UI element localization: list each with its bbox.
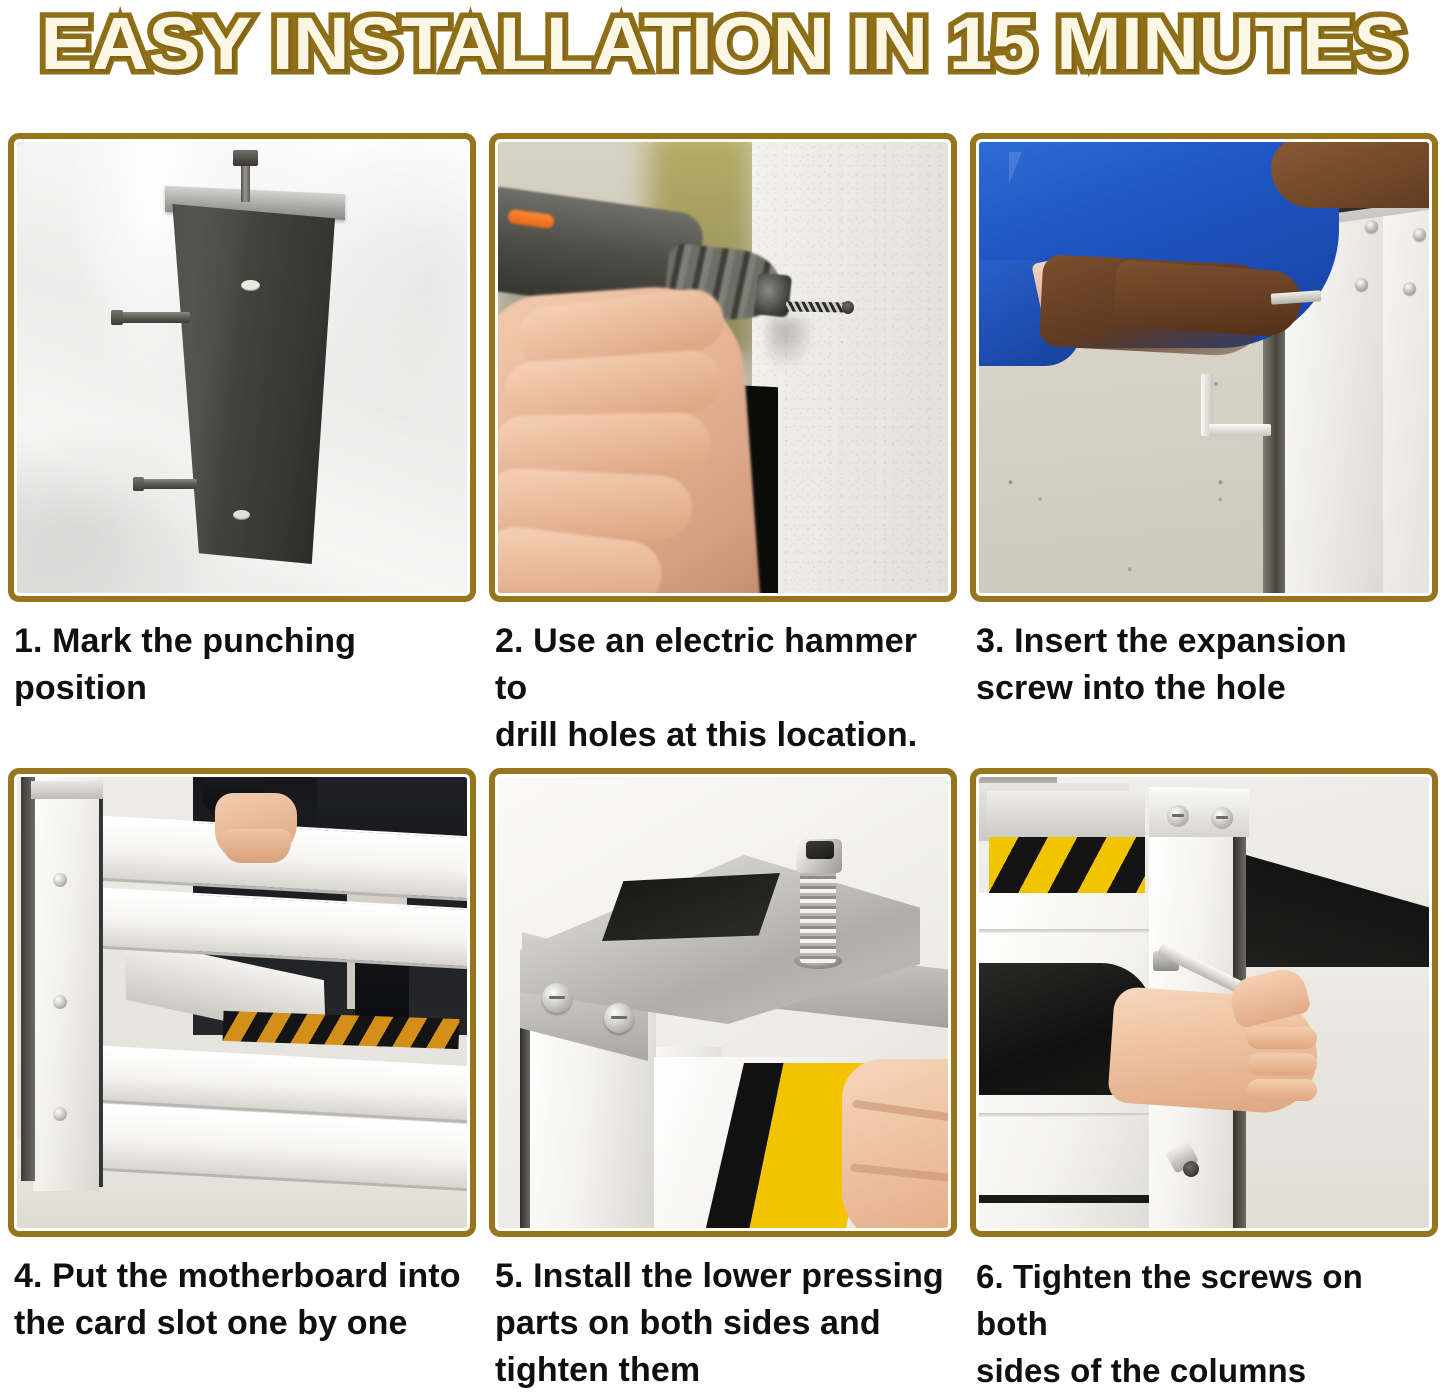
step-photo-frame-4 <box>8 768 476 1237</box>
step-card-1: 1. Mark the punching position <box>8 133 476 759</box>
step-photo-3 <box>979 142 1429 593</box>
step-photo-2 <box>498 142 948 593</box>
step-card-6: 6. Tighten the screws on both sides of t… <box>970 768 1438 1394</box>
step-photo-frame-6 <box>970 768 1438 1237</box>
step-caption-6: 6. Tighten the screws on both sides of t… <box>970 1237 1438 1394</box>
installation-guide-poster: EASY INSTALLATION IN 15 MINUTES <box>0 0 1445 1352</box>
step-caption-4: 4. Put the motherboard into the card slo… <box>8 1237 476 1347</box>
step-caption-1: 1. Mark the punching position <box>8 602 476 712</box>
steps-row-bottom: 4. Put the motherboard into the card slo… <box>8 768 1438 1394</box>
steps-row-top: 1. Mark the punching position <box>8 133 1438 759</box>
step-card-4: 4. Put the motherboard into the card slo… <box>8 768 476 1394</box>
step-caption-3: 3. Insert the expansion screw into the h… <box>970 602 1438 712</box>
step-caption-5: 5. Install the lower pressing parts on b… <box>489 1237 957 1394</box>
steps-grid: 1. Mark the punching position <box>8 133 1438 1394</box>
step-photo-6 <box>979 777 1429 1228</box>
step-card-5: 5. Install the lower pressing parts on b… <box>489 768 957 1394</box>
step-card-3: 3. Insert the expansion screw into the h… <box>970 133 1438 759</box>
step-caption-2: 2. Use an electric hammer to drill holes… <box>489 602 957 759</box>
step-photo-5 <box>498 777 948 1228</box>
step-photo-frame-3 <box>970 133 1438 602</box>
step-photo-frame-1 <box>8 133 476 602</box>
step-photo-frame-2 <box>489 133 957 602</box>
page-title: EASY INSTALLATION IN 15 MINUTES <box>40 0 1405 84</box>
step-photo-1 <box>17 142 467 593</box>
step-card-2: 2. Use an electric hammer to drill holes… <box>489 133 957 759</box>
step-photo-frame-5 <box>489 768 957 1237</box>
step-photo-4 <box>17 777 467 1228</box>
poster-header: EASY INSTALLATION IN 15 MINUTES <box>0 0 1445 108</box>
